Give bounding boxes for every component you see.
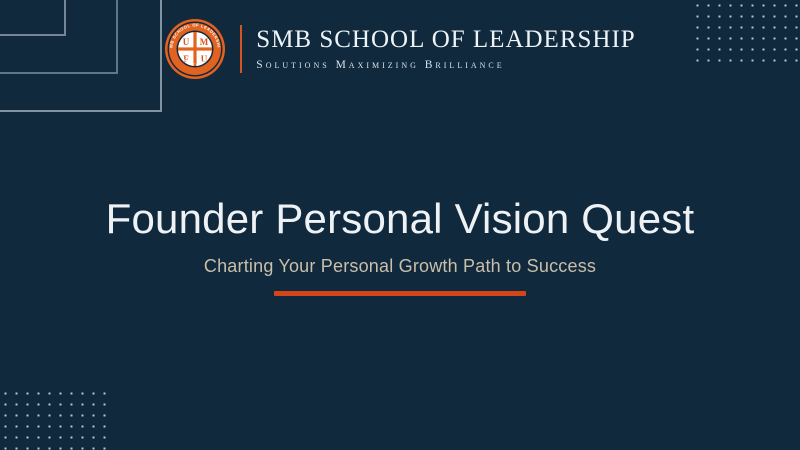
brand-tagline: Solutions Maximizing Brilliance — [256, 59, 635, 71]
dot-grid-bottom-left — [0, 388, 112, 450]
title-block: Founder Personal Vision Quest Charting Y… — [0, 196, 800, 296]
slide-title: Founder Personal Vision Quest — [0, 196, 800, 242]
brand-lockup: U M F U SMB SCHOOL OF LEADERSHIP BOO T C… — [0, 18, 800, 80]
brand-divider — [240, 25, 242, 73]
accent-underline — [274, 291, 526, 296]
svg-text:M: M — [200, 37, 209, 47]
brand-name: SMB SCHOOL OF LEADERSHIP — [256, 27, 635, 53]
presentation-slide: U M F U SMB SCHOOL OF LEADERSHIP BOO T C… — [0, 0, 800, 450]
brand-text-block: SMB SCHOOL OF LEADERSHIP Solutions Maxim… — [256, 27, 635, 70]
svg-text:U: U — [183, 37, 190, 47]
slide-subtitle: Charting Your Personal Growth Path to Su… — [0, 256, 800, 278]
seal-logo-icon: U M F U SMB SCHOOL OF LEADERSHIP BOO T C… — [164, 18, 226, 80]
